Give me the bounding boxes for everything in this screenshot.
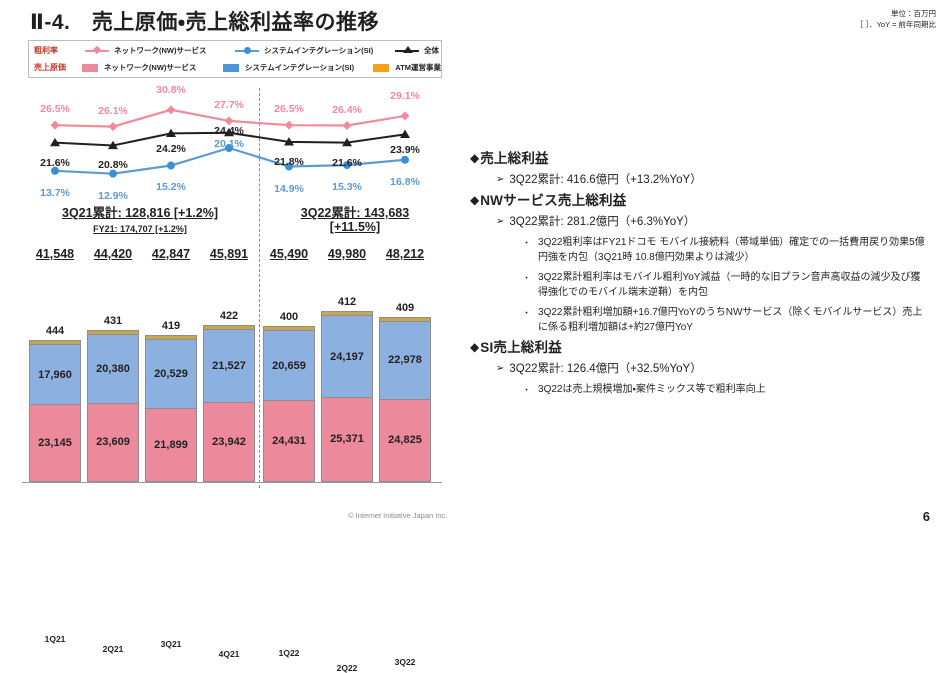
quarter-total-value: 42,847 — [152, 247, 190, 261]
quarter-total-value: 49,980 — [328, 247, 366, 261]
diamond-marker-icon — [51, 121, 60, 130]
si-segment-value: 20,659 — [272, 360, 306, 372]
nw-margin-label: 27.7% — [214, 99, 244, 111]
cumulative-3q22-line2: [+11.5%] — [330, 220, 380, 234]
nw-segment-value: 23,942 — [212, 436, 246, 448]
x-axis-label: 3Q22 — [395, 657, 416, 667]
dot-bullet-icon: ・ — [522, 271, 531, 286]
unit-note: 単位：百万円 ［ ］、YoY = 前年同期比 — [856, 8, 936, 30]
legend-label: ネットワーク(NW)サービス — [114, 45, 207, 56]
legend-label: 全体 — [424, 45, 439, 56]
total-margin-label: 21.6% — [40, 157, 70, 169]
bar-column: 40020,65924,4311Q22 — [263, 326, 315, 482]
note-bullet-item: ・3Q22累計粗利増加額+16.7億円YoYのうちNWサービス（除くモバイルサー… — [522, 306, 938, 335]
si-margin-label: 16.8% — [390, 176, 420, 188]
legend-item-atm-cost: ATM運営事業 — [373, 62, 441, 73]
nw-segment: 23,942 — [203, 402, 255, 482]
nw-margin-label: 26.5% — [274, 103, 304, 115]
atm-segment-value: 400 — [280, 311, 298, 323]
triangle-marker-icon — [395, 46, 419, 55]
nw-margin-label: 26.5% — [40, 103, 70, 115]
total-margin-label: 24.4% — [214, 125, 244, 137]
quarter-total-value: 48,212 — [386, 247, 424, 261]
si-segment: 17,960 — [29, 344, 81, 404]
note-bullet-text: 3Q22は売上規模増加・案件ミックス等で粗利率向上 — [538, 383, 766, 398]
diamond-marker-icon — [401, 111, 410, 120]
atm-segment-value: 431 — [104, 315, 122, 327]
diamond-bullet-icon: ◆ — [470, 150, 479, 167]
nw-segment-value: 21,899 — [154, 439, 188, 451]
atm-segment-value: 409 — [396, 302, 414, 314]
nw-color-swatch — [82, 64, 98, 72]
si-segment: 20,380 — [87, 334, 139, 403]
cumulative-3q21: 3Q21累計: 128,816 [+1.2%] — [62, 202, 218, 221]
nw-segment-value: 24,825 — [388, 434, 422, 446]
nw-margin-label: 26.4% — [332, 104, 362, 116]
legend-item-si-cost: システムインテグレーション(SI) — [223, 62, 373, 73]
total-margin-label: 20.8% — [98, 159, 128, 171]
diamond-marker-icon — [285, 121, 294, 130]
quarter-total-value: 44,420 — [94, 247, 132, 261]
diamond-marker-icon — [85, 46, 109, 55]
commentary-panel: ◆売上総利益➢3Q22累計: 416.6億円（+13.2%YoY）◆NWサービス… — [470, 146, 938, 398]
arrow-bullet-icon: ➢ — [496, 361, 504, 377]
legend-item-si-margin: システムインテグレーション(SI) — [235, 45, 395, 56]
note-arrow-item: ➢3Q22累計: 281.2億円（+6.3%YoY） — [496, 214, 938, 230]
note-arrow-text: 3Q22累計: 126.4億円（+32.5%YoY） — [509, 361, 701, 377]
diamond-bullet-icon: ◆ — [470, 192, 479, 209]
note-heading: ◆SI売上総利益 — [470, 339, 938, 356]
atm-color-swatch — [373, 64, 389, 72]
bar-column: 40922,97824,8253Q22 — [379, 317, 431, 482]
x-axis-line — [22, 482, 442, 483]
page-title: Ⅱ-4. 売上原価・売上総利益率の推移 — [30, 6, 379, 36]
quarter-total-value: 41,548 — [36, 247, 74, 261]
note-heading-text: SI売上総利益 — [480, 339, 562, 356]
x-axis-label: 4Q21 — [219, 649, 240, 659]
triangle-marker-icon — [400, 130, 410, 138]
bar-column: 42221,52723,9424Q21 — [203, 325, 255, 482]
bar-column: 41224,19725,3712Q22 — [321, 311, 373, 482]
diamond-marker-icon — [109, 122, 118, 131]
note-heading: ◆売上総利益 — [470, 150, 938, 167]
x-axis-label: 1Q22 — [279, 648, 300, 658]
note-heading: ◆NWサービス売上総利益 — [470, 192, 938, 209]
cumulative-fy21: FY21: 174,707 [+1.2%] — [93, 224, 187, 234]
diamond-marker-icon — [343, 121, 352, 130]
atm-segment-value: 422 — [220, 310, 238, 322]
nw-segment-value: 24,431 — [272, 435, 306, 447]
x-axis-label: 3Q21 — [161, 639, 182, 649]
nw-segment-value: 25,371 — [330, 433, 364, 445]
si-segment: 20,659 — [263, 330, 315, 399]
dot-bullet-icon: ・ — [522, 306, 531, 321]
bar-column: 44417,96023,1451Q21 — [29, 340, 81, 482]
legend-item-nw-cost: ネットワーク(NW)サービス — [82, 62, 223, 73]
si-segment-value: 22,978 — [388, 354, 422, 366]
legend-row-cost: 売上原価 ネットワーク(NW)サービス システムインテグレーション(SI) AT… — [29, 59, 441, 76]
arrow-bullet-icon: ➢ — [496, 214, 504, 230]
total-margin-label: 21.6% — [332, 157, 362, 169]
note-bullet-text: 3Q22粗利率はFY21ドコモ モバイル接続料（帯域単価）確定での一括費用戻り効… — [538, 236, 930, 265]
bar-column: 41920,52921,8993Q21 — [145, 335, 197, 482]
quarter-total-value: 45,891 — [210, 247, 248, 261]
circle-marker-icon — [401, 156, 409, 164]
si-segment: 20,529 — [145, 339, 197, 408]
legend-label: システムインテグレーション(SI) — [264, 45, 373, 56]
page-number: 6 — [923, 509, 930, 524]
legend-row-margin-label: 粗利率 — [29, 45, 85, 56]
legend-row-margin: 粗利率 ネットワーク(NW)サービス システムインテグレーション(SI) 全体 — [29, 42, 441, 59]
note-arrow-text: 3Q22累計: 281.2億円（+6.3%YoY） — [509, 214, 695, 230]
unit-note-line1: 単位：百万円 — [856, 8, 936, 19]
nw-segment-value: 23,609 — [96, 436, 130, 448]
cost-stacked-bars: 44417,96023,1451Q2143120,38023,6092Q2141… — [0, 284, 462, 504]
si-segment: 22,978 — [379, 321, 431, 398]
atm-segment-value: 419 — [162, 320, 180, 332]
note-arrow-item: ➢3Q22累計: 126.4億円（+32.5%YoY） — [496, 361, 938, 377]
si-margin-label: 20.1% — [214, 138, 244, 150]
si-segment-value: 24,197 — [330, 351, 364, 363]
note-arrow-item: ➢3Q22累計: 416.6億円（+13.2%YoY） — [496, 172, 938, 188]
diamond-marker-icon — [167, 105, 176, 114]
copyright-text: © Internet Initiative Japan Inc. — [348, 511, 447, 520]
si-segment: 24,197 — [321, 315, 373, 396]
legend-label: ATM運営事業 — [395, 62, 441, 73]
legend-item-nw-margin: ネットワーク(NW)サービス — [85, 45, 235, 56]
gross-margin-line-chart: 26.5%26.1%30.8%27.7%26.5%26.4%29.1%21.6%… — [0, 84, 462, 196]
bar-column: 43120,38023,6092Q21 — [87, 330, 139, 482]
si-color-swatch — [223, 64, 239, 72]
legend-label: システムインテグレーション(SI) — [245, 62, 354, 73]
nw-segment: 23,609 — [87, 403, 139, 482]
note-heading-text: 売上総利益 — [480, 150, 549, 167]
note-bullet-item: ・3Q22粗利率はFY21ドコモ モバイル接続料（帯域単価）確定での一括費用戻り… — [522, 236, 938, 265]
nw-segment: 24,431 — [263, 400, 315, 482]
cumulative-3q22-line1: 3Q22累計: 143,683 — [301, 202, 409, 221]
legend-item-total-margin: 全体 — [395, 45, 439, 56]
nw-segment: 25,371 — [321, 397, 373, 482]
total-margin-label: 21.8% — [274, 156, 304, 168]
note-bullet-item: ・3Q22は売上規模増加・案件ミックス等で粗利率向上 — [522, 383, 938, 398]
legend-row-cost-label: 売上原価 — [29, 62, 82, 73]
chart-legend: 粗利率 ネットワーク(NW)サービス システムインテグレーション(SI) 全体 … — [28, 40, 442, 78]
note-bullet-text: 3Q22累計粗利率はモバイル粗利YoY減益（一時的な旧プラン音声高収益の減少及び… — [538, 271, 930, 300]
total-margin-label: 23.9% — [390, 144, 420, 156]
total-margin-label: 24.2% — [156, 143, 186, 155]
si-segment: 21,527 — [203, 329, 255, 401]
circle-marker-icon — [235, 46, 259, 55]
si-segment-value: 21,527 — [212, 360, 246, 372]
note-bullet-item: ・3Q22累計粗利率はモバイル粗利YoY減益（一時的な旧プラン音声高収益の減少及… — [522, 271, 938, 300]
atm-segment-value: 444 — [46, 325, 64, 337]
note-heading-text: NWサービス売上総利益 — [480, 192, 626, 209]
diamond-bullet-icon: ◆ — [470, 339, 479, 356]
si-margin-label: 13.7% — [40, 187, 70, 199]
si-segment-value: 20,380 — [96, 363, 130, 375]
si-margin-label: 15.3% — [332, 181, 362, 193]
arrow-bullet-icon: ➢ — [496, 172, 504, 188]
x-axis-label: 1Q21 — [45, 634, 66, 644]
legend-label: ネットワーク(NW)サービス — [104, 62, 197, 73]
nw-segment: 23,145 — [29, 404, 81, 482]
nw-segment: 21,899 — [145, 408, 197, 482]
si-margin-label: 15.2% — [156, 181, 186, 193]
note-bullet-text: 3Q22累計粗利増加額+16.7億円YoYのうちNWサービス（除くモバイルサービ… — [538, 306, 930, 335]
atm-segment-value: 412 — [338, 296, 356, 308]
quarter-total-value: 45,490 — [270, 247, 308, 261]
nw-margin-label: 30.8% — [156, 84, 186, 96]
x-axis-label: 2Q21 — [103, 644, 124, 654]
nw-segment: 24,825 — [379, 399, 431, 482]
nw-segment-value: 23,145 — [38, 437, 72, 449]
x-axis-label: 2Q22 — [337, 663, 358, 673]
si-segment-value: 17,960 — [38, 369, 72, 381]
si-margin-label: 12.9% — [98, 190, 128, 202]
si-margin-label: 14.9% — [274, 183, 304, 195]
unit-note-line2: ［ ］、YoY = 前年同期比 — [856, 19, 936, 30]
nw-margin-label: 29.1% — [390, 90, 420, 102]
note-arrow-text: 3Q22累計: 416.6億円（+13.2%YoY） — [509, 172, 701, 188]
dot-bullet-icon: ・ — [522, 236, 531, 251]
nw-margin-label: 26.1% — [98, 105, 128, 117]
dot-bullet-icon: ・ — [522, 383, 531, 398]
circle-marker-icon — [167, 161, 175, 169]
si-segment-value: 20,529 — [154, 368, 188, 380]
cost-and-margin-chart: 26.5%26.1%30.8%27.7%26.5%26.4%29.1%21.6%… — [0, 84, 462, 504]
